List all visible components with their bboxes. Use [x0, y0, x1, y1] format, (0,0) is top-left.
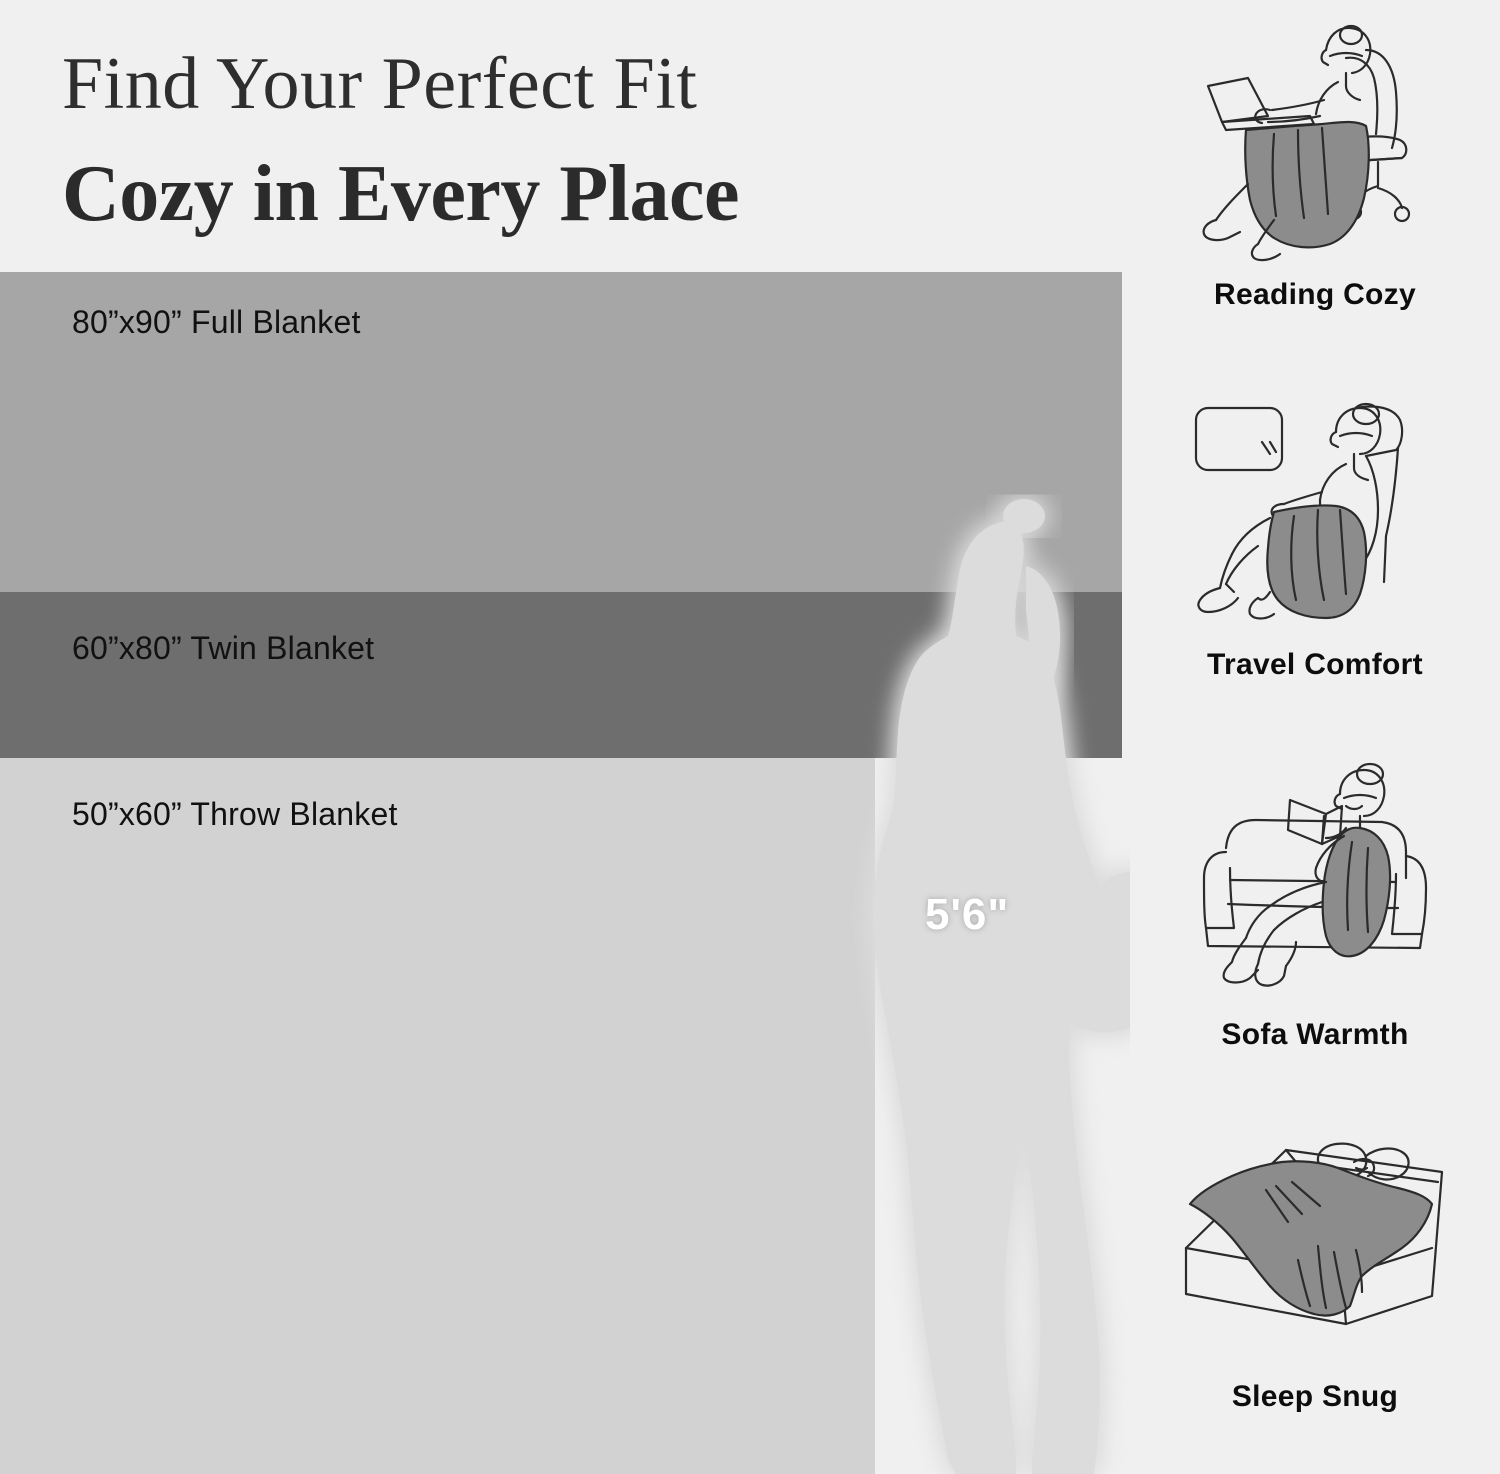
header: Find Your Perfect Fit Cozy in Every Plac… — [0, 0, 1130, 272]
blanket-size-infographic: Find Your Perfect Fit Cozy in Every Plac… — [0, 0, 1500, 1474]
use-case-reading-cozy-label: Reading Cozy — [1214, 278, 1416, 312]
use-case-sleep-snug-label: Sleep Snug — [1232, 1380, 1398, 1414]
size-block-twin-label: 60”x80” Twin Blanket — [72, 630, 374, 667]
size-block-full: 80”x90” Full Blanket — [0, 272, 1122, 592]
use-case-reading-cozy[interactable]: Reading Cozy — [1130, 16, 1500, 312]
use-case-travel-comfort-label: Travel Comfort — [1207, 648, 1423, 682]
page-title-line1: Find Your Perfect Fit — [62, 44, 697, 124]
size-block-twin: 60”x80” Twin Blanket — [0, 592, 1122, 758]
woman-in-airplane-seat-with-blanket-icon — [1170, 386, 1460, 646]
use-case-travel-comfort[interactable]: Travel Comfort — [1130, 386, 1500, 682]
use-case-sleep-snug[interactable]: Sleep Snug — [1130, 1128, 1500, 1414]
woman-at-desk-with-laptop-and-blanket-icon — [1170, 16, 1460, 276]
use-case-panel: Reading Cozy — [1130, 0, 1500, 1474]
page-title-line2: Cozy in Every Place — [62, 150, 739, 238]
size-comparison-chart: 80”x90” Full Blanket 60”x80” Twin Blanke… — [0, 272, 1130, 1474]
use-case-sofa-warmth[interactable]: Sofa Warmth — [1130, 756, 1500, 1052]
person-sleeping-in-bed-with-blanket-icon — [1170, 1128, 1460, 1378]
use-case-sofa-warmth-label: Sofa Warmth — [1221, 1018, 1408, 1052]
woman-on-sofa-reading-with-blanket-icon — [1170, 756, 1460, 1016]
size-block-throw: 50”x60” Throw Blanket — [0, 758, 875, 1474]
size-block-full-label: 80”x90” Full Blanket — [72, 304, 361, 341]
size-block-throw-label: 50”x60” Throw Blanket — [72, 796, 398, 833]
figure-height-label: 5'6" — [925, 890, 1009, 940]
